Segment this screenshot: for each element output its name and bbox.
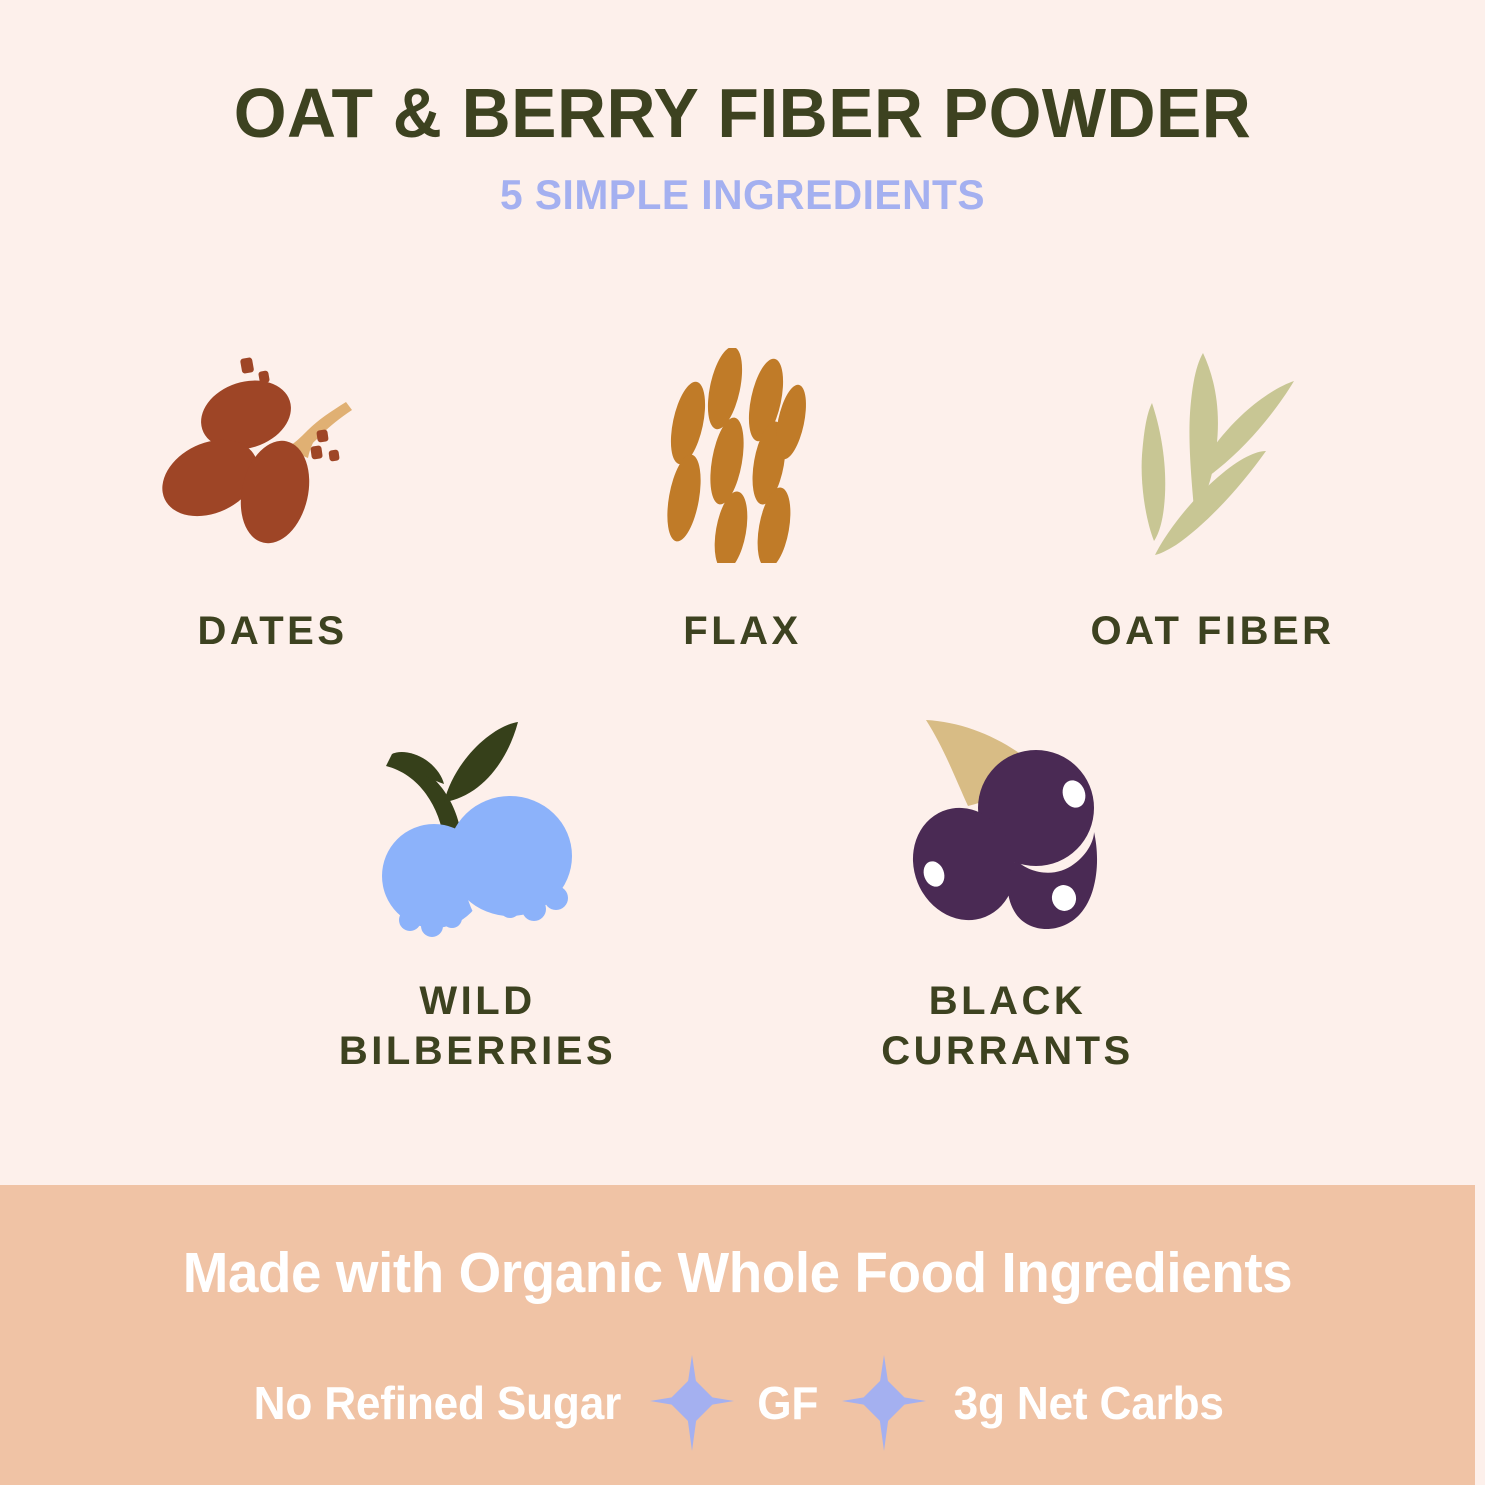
ingredient-label: OAT FIBER bbox=[1090, 606, 1334, 656]
ingredient-label: WILD BILBERRIES bbox=[339, 976, 616, 1076]
bilberries-icon bbox=[370, 700, 585, 950]
ingredient-label: DATES bbox=[197, 606, 347, 656]
ingredient-row-1: DATES bbox=[0, 330, 1485, 656]
sparkle-star-icon bbox=[628, 1355, 756, 1451]
ingredient-label: BLACK CURRANTS bbox=[881, 976, 1133, 1076]
claim-no-refined-sugar: No Refined Sugar bbox=[253, 1376, 620, 1430]
claims-row: No Refined Sugar GF 3g Net Carbs bbox=[0, 1355, 1475, 1451]
page-subtitle: 5 SIMPLE INGREDIENTS bbox=[22, 174, 1462, 216]
blackcurrants-icon bbox=[908, 700, 1108, 950]
banner-headline: Made with Organic Whole Food Ingredients bbox=[30, 1240, 1446, 1306]
dates-icon bbox=[158, 330, 388, 580]
header: OAT & BERRY FIBER POWDER 5 SIMPLE INGRED… bbox=[0, 78, 1485, 216]
ingredient-item-flax: FLAX bbox=[508, 330, 978, 656]
ingredient-item-black-currants: BLACK CURRANTS bbox=[743, 700, 1273, 1076]
sparkle-star-icon bbox=[820, 1355, 948, 1451]
oat-leaves-icon bbox=[1108, 330, 1318, 580]
ingredient-item-dates: DATES bbox=[38, 330, 508, 656]
claim-gf: GF bbox=[758, 1376, 819, 1430]
ingredient-item-oat-fiber: OAT FIBER bbox=[978, 330, 1448, 656]
flax-seeds-icon bbox=[663, 330, 823, 580]
ingredient-label: FLAX bbox=[683, 606, 801, 656]
page-title: OAT & BERRY FIBER POWDER bbox=[22, 78, 1462, 148]
product-infographic: OAT & BERRY FIBER POWDER 5 SIMPLE INGRED… bbox=[0, 0, 1485, 1485]
claim-net-carbs: 3g Net Carbs bbox=[954, 1376, 1224, 1430]
ingredient-item-wild-bilberries: WILD BILBERRIES bbox=[213, 700, 743, 1076]
ingredient-row-2: WILD BILBERRIES bbox=[0, 700, 1485, 1076]
